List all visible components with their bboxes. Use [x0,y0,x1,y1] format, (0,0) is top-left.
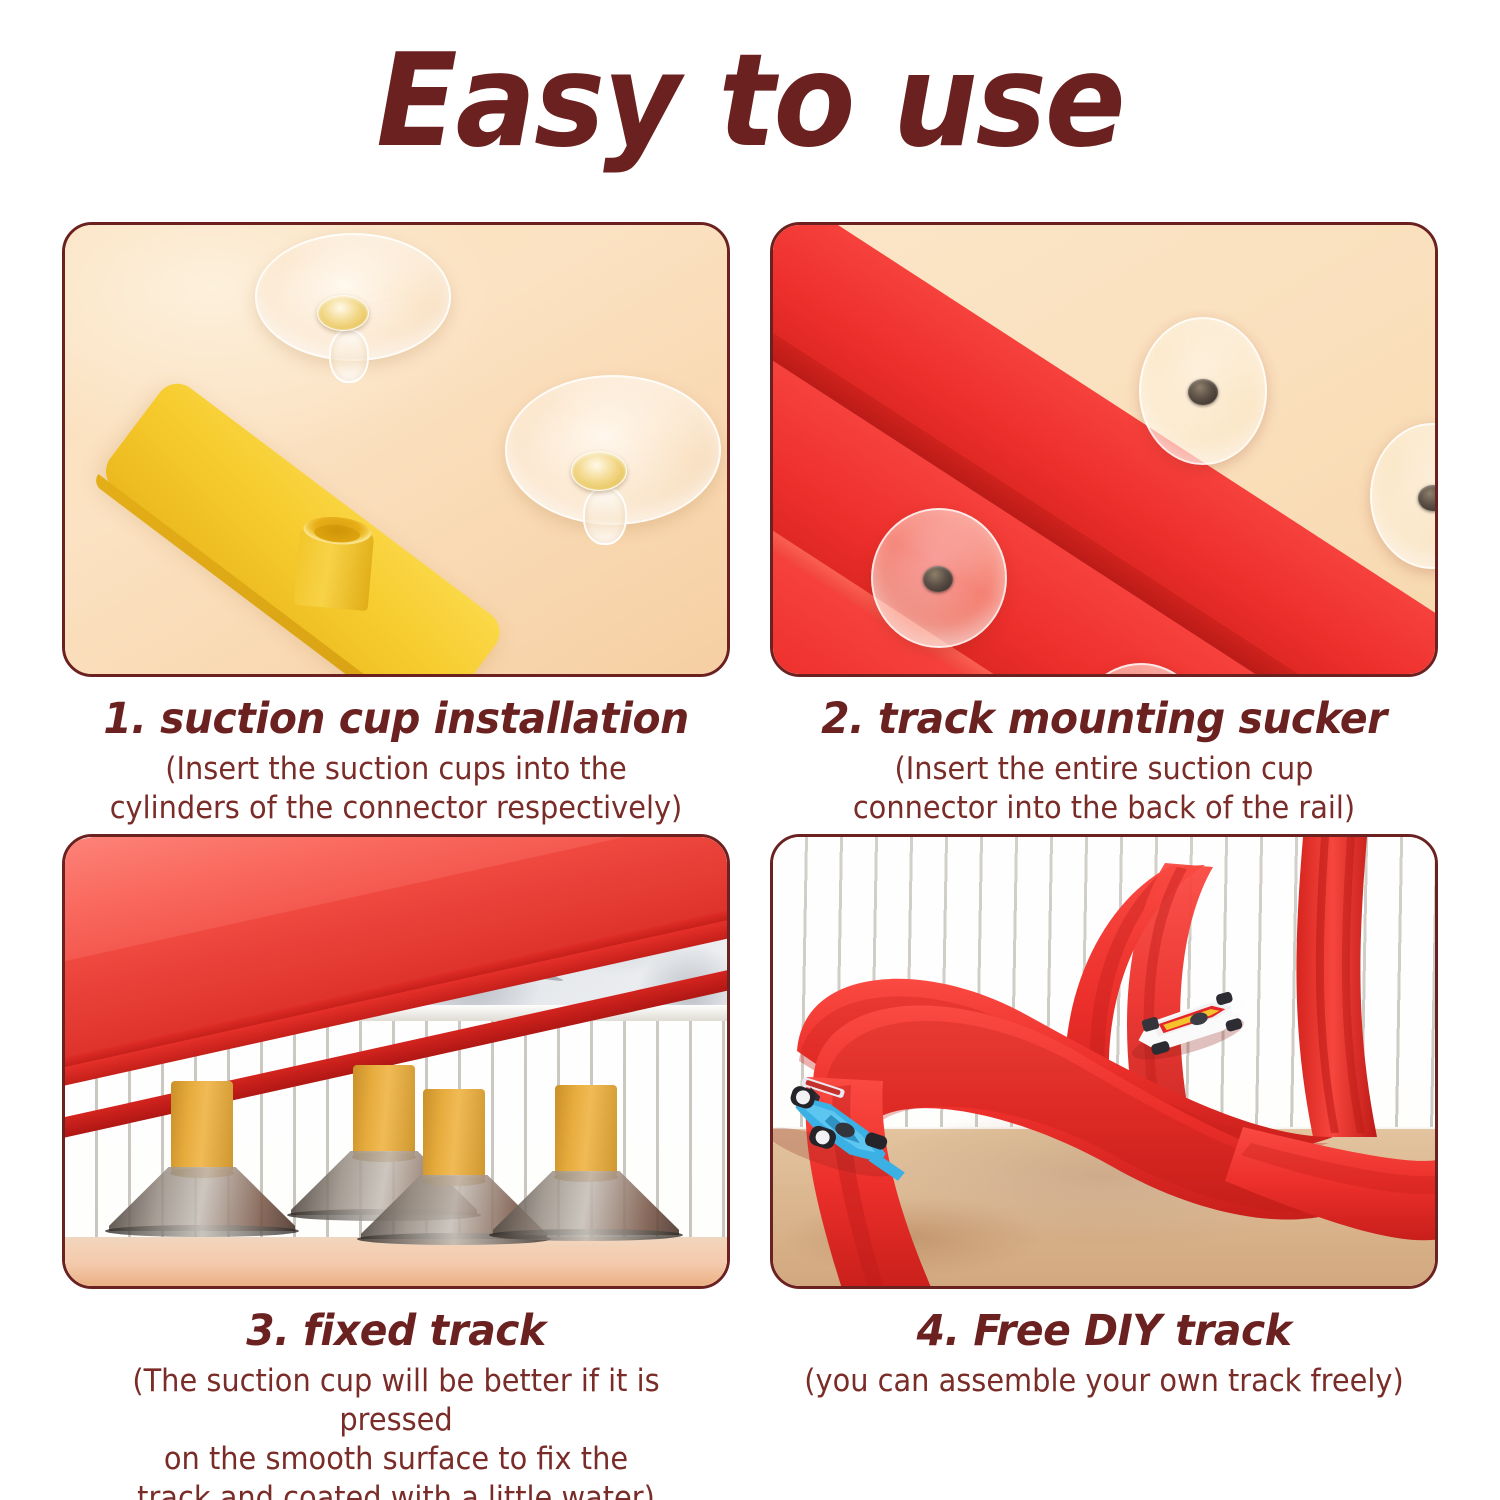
glossy-floor [65,1237,727,1286]
step-3-heading: 3. fixed track [79,1307,714,1356]
infographic-page: Easy to use [0,0,1500,1500]
subtitle-line: cylinders of the connector respectively) [85,789,706,828]
step-4-heading: 4. Free DIY track [787,1307,1422,1356]
diy-track-assembly [773,837,1435,1286]
subtitle-line: connector into the back of the rail) [793,789,1414,828]
step-3-subtitle: (The suction cup will be better if it is… [85,1362,706,1500]
step-4-image [770,834,1438,1289]
step-4-caption: 4. Free DIY track (you can assemble your… [770,1289,1438,1401]
subtitle-line: (The suction cup will be better if it is… [85,1362,706,1440]
step-card-1: 1. suction cup installation (Insert the … [62,222,730,828]
page-title: Easy to use [53,28,1448,175]
step-4-subtitle: (you can assemble your own track freely) [793,1362,1414,1401]
step-2-image [770,222,1438,677]
subtitle-line: on the smooth surface to fix the [85,1440,706,1479]
step-2-subtitle: (Insert the entire suction cup connector… [793,750,1414,828]
step-2-caption: 2. track mounting sucker (Insert the ent… [770,677,1438,828]
subtitle-line: track and coated with a little water) [85,1479,706,1500]
step-1-heading: 1. suction cup installation [79,695,714,744]
step-1-caption: 1. suction cup installation (Insert the … [62,677,730,828]
step-3-image [62,834,730,1289]
step-card-2: 2. track mounting sucker (Insert the ent… [770,222,1438,828]
subtitle-line: (Insert the suction cups into the [85,750,706,789]
steps-grid: 1. suction cup installation (Insert the … [0,222,1500,1500]
step-3-caption: 3. fixed track (The suction cup will be … [62,1289,730,1500]
step-1-subtitle: (Insert the suction cups into the cylind… [85,750,706,828]
step-1-image [62,222,730,677]
step-card-4: 4. Free DIY track (you can assemble your… [770,834,1438,1401]
connector-cylinder-socket [294,527,375,611]
subtitle-line: (Insert the entire suction cup [793,750,1414,789]
step-card-3: 3. fixed track (The suction cup will be … [62,834,730,1500]
subtitle-line: (you can assemble your own track freely) [793,1362,1414,1401]
step-2-heading: 2. track mounting sucker [787,695,1422,744]
